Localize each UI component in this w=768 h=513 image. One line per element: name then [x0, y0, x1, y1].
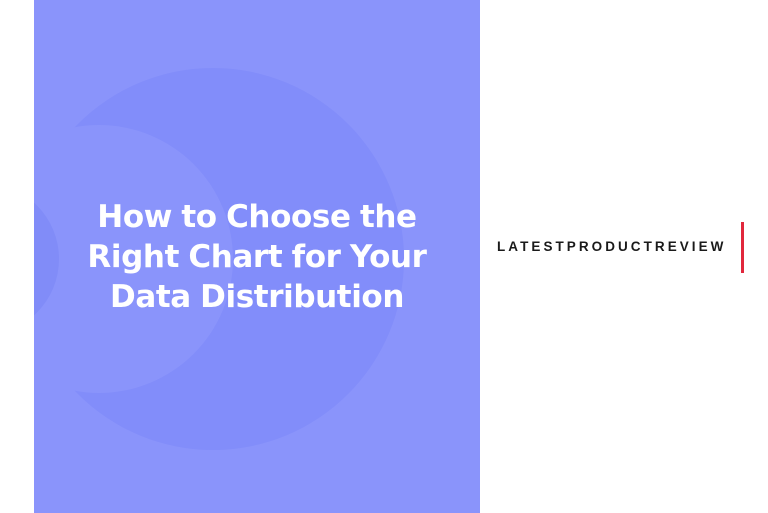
hero-title-container: How to Choose the Right Chart for Your D… [34, 0, 480, 513]
brand-accent-bar [741, 222, 744, 273]
article-title: How to Choose the Right Chart for Your D… [56, 197, 458, 317]
brand-wordmark: LATESTPRODUCTREVIEW [497, 238, 726, 256]
article-hero-card: How to Choose the Right Chart for Your D… [0, 0, 768, 513]
hero-panel: How to Choose the Right Chart for Your D… [34, 0, 480, 513]
brand-block: LATESTPRODUCTREVIEW [480, 0, 768, 513]
